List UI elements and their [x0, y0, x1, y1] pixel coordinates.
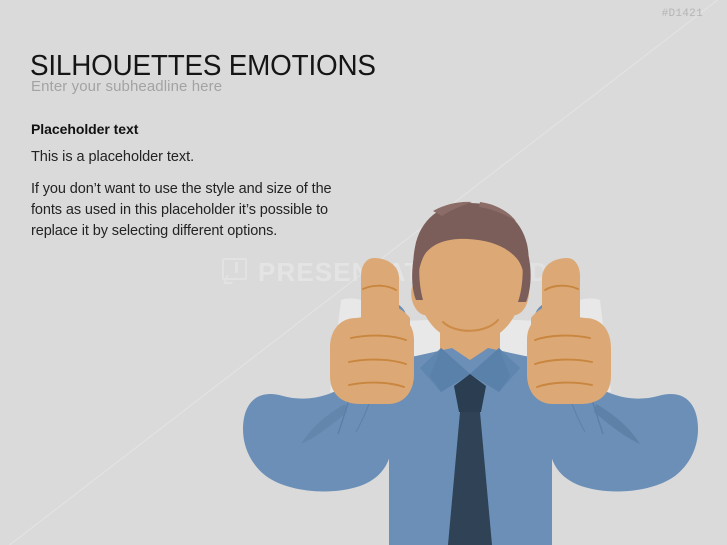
- document-code: #D1421: [662, 8, 703, 20]
- subheadline-placeholder[interactable]: Enter your subheadline here: [31, 78, 222, 95]
- placeholder-intro-line: This is a placeholder text.: [31, 149, 351, 165]
- body-text-block[interactable]: Placeholder text This is a placeholder t…: [31, 121, 351, 242]
- slide-canvas: PRESENTATIONLOAD #D1421 SILHOUETTES EMOT…: [0, 0, 727, 545]
- watermark-text-primary: PRESENTATION: [258, 257, 471, 287]
- presentationload-watermark: PRESENTATIONLOAD: [222, 258, 549, 285]
- placeholder-paragraph: If you don’t want to use the style and s…: [31, 179, 351, 242]
- watermark-text: PRESENTATIONLOAD: [258, 259, 549, 285]
- placeholder-heading: Placeholder text: [31, 121, 351, 137]
- speech-bubble-frame-icon: [222, 258, 249, 285]
- watermark-text-secondary: LOAD: [471, 257, 549, 287]
